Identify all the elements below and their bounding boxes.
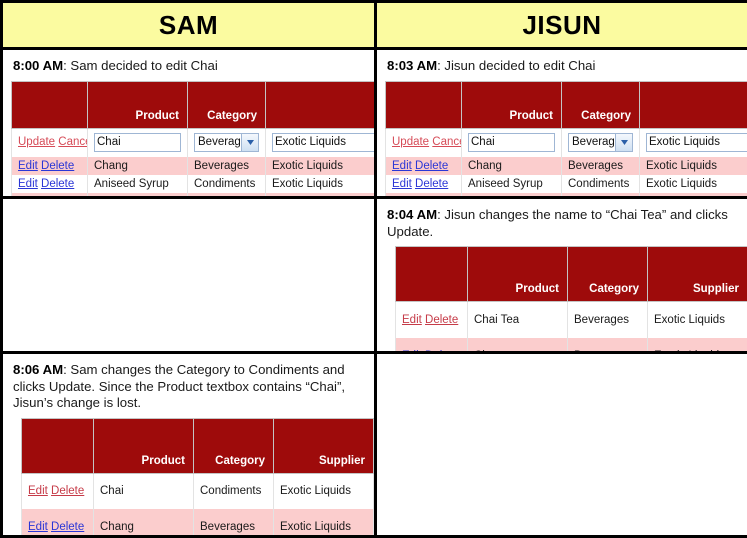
row-commands: Edit Delete: [12, 175, 88, 193]
supplier-input[interactable]: [646, 133, 747, 152]
edit-link[interactable]: Edit: [18, 178, 38, 190]
row-commands: Update Cancel: [386, 128, 462, 157]
edit-link[interactable]: Edit: [392, 178, 412, 190]
column-header-supplier: Supplier: [640, 81, 747, 128]
product-cell: Aniseed Syrup: [88, 175, 188, 193]
product-cell: Chang: [94, 509, 194, 535]
supplier-cell: Exotic Liquids: [648, 338, 747, 352]
panel-title-jisun-label: JISUN: [522, 10, 601, 41]
table-header-row: Product Category Supplier: [12, 81, 375, 128]
category-cell-editing: Beverages: [562, 128, 640, 157]
table-row: Edit Delete Chang Beverages Exotic Liqui…: [22, 509, 374, 535]
edit-link[interactable]: Edit: [402, 350, 422, 352]
product-cell: Chef Anton's Cajun: [88, 193, 188, 197]
column-header-category: Category: [188, 81, 266, 128]
column-header-command: [22, 418, 94, 473]
column-header-category: Category: [562, 81, 640, 128]
row-commands: Edit Delete: [12, 157, 88, 175]
table-row: Edit Delete Aniseed Syrup Condiments Exo…: [386, 175, 747, 193]
product-cell: Aniseed Syrup: [462, 175, 562, 193]
update-link[interactable]: Update: [392, 136, 429, 148]
cell-sam-8-00: 8:00 AM: Sam decided to edit Chai Produc…: [3, 50, 374, 196]
supplier-cell: New Orleans Cajun Delights: [266, 193, 375, 197]
row-commands: Edit Delete: [386, 193, 462, 197]
supplier-cell: Exotic Liquids: [266, 175, 375, 193]
table-row: Edit Delete Chai Condiments Exotic Liqui…: [22, 473, 374, 509]
supplier-cell: Exotic Liquids: [640, 175, 747, 193]
column-header-product: Product: [462, 81, 562, 128]
table-row: Edit Delete Chai Tea Beverages Exotic Li…: [396, 302, 747, 338]
grid-view-jisun-8-03: Product Category Supplier Update Cancel …: [385, 81, 747, 197]
caption-text-jisun-8-03: : Jisun decided to edit Chai: [437, 58, 595, 73]
column-header-supplier: Supplier: [648, 247, 747, 302]
product-cell: Chef Anton's Cajun: [462, 193, 562, 197]
row-commands: Edit Delete: [396, 338, 468, 352]
cell-jisun-empty-1: [377, 354, 747, 535]
product-cell: Chai Tea: [468, 302, 568, 338]
category-cell-editing: Beverages: [188, 128, 266, 157]
supplier-cell: Exotic Liquids: [274, 473, 374, 509]
delete-link[interactable]: Delete: [425, 350, 458, 352]
update-link[interactable]: Update: [18, 136, 55, 148]
column-header-product: Product: [468, 247, 568, 302]
column-header-category: Category: [568, 247, 648, 302]
category-select[interactable]: Beverages: [194, 133, 259, 152]
timestamp-jisun-8-03: 8:03 AM: [387, 58, 437, 73]
delete-link[interactable]: Delete: [51, 485, 84, 497]
product-cell: Chai: [94, 473, 194, 509]
table-row: Edit Delete Chang Beverages Exotic Liqui…: [396, 338, 747, 352]
supplier-input[interactable]: [272, 133, 374, 152]
table-row: Edit Delete Chang Beverages Exotic Liqui…: [12, 157, 375, 175]
supplier-cell-editing: [640, 128, 747, 157]
delete-link[interactable]: Delete: [415, 196, 448, 197]
cell-jisun-8-04: 8:04 AM: Jisun changes the name to “Chai…: [377, 199, 747, 351]
edit-link[interactable]: Edit: [28, 485, 48, 497]
delete-link[interactable]: Delete: [415, 160, 448, 172]
delete-link[interactable]: Delete: [415, 178, 448, 190]
column-header-command: [396, 247, 468, 302]
table-header-row: Product Category Supplier: [386, 81, 747, 128]
table-header-row: Product Category Supplier: [22, 418, 374, 473]
category-cell: Condiments: [562, 193, 640, 197]
column-header-product: Product: [94, 418, 194, 473]
panel-title-sam: SAM: [3, 3, 374, 47]
table-row-editing: Update Cancel Beverages: [12, 128, 375, 157]
panel-title-jisun: JISUN: [377, 3, 747, 47]
supplier-cell: New Orleans Cajun Delights: [640, 193, 747, 197]
edit-link[interactable]: Edit: [18, 160, 38, 172]
category-cell: Beverages: [194, 509, 274, 535]
row-commands: Edit Delete: [386, 157, 462, 175]
table-row: Edit Delete Chang Beverages Exotic Liqui…: [386, 157, 747, 175]
product-cell: Chang: [468, 338, 568, 352]
category-cell: Beverages: [188, 157, 266, 175]
column-header-category: Category: [194, 418, 274, 473]
category-cell: Beverages: [562, 157, 640, 175]
row-commands: Update Cancel: [12, 128, 88, 157]
supplier-cell-editing: [266, 128, 375, 157]
table-row-editing: Update Cancel Beverages: [386, 128, 747, 157]
category-select[interactable]: Beverages: [568, 133, 633, 152]
edit-link[interactable]: Edit: [18, 196, 38, 197]
row-commands: Edit Delete: [22, 509, 94, 535]
product-cell: Chang: [88, 157, 188, 175]
column-header-command: [12, 81, 88, 128]
category-cell: Beverages: [568, 302, 648, 338]
edit-link[interactable]: Edit: [392, 160, 412, 172]
timestamp-sam-8-00: 8:00 AM: [13, 58, 63, 73]
caption-sam-8-00: 8:00 AM: Sam decided to edit Chai: [13, 58, 366, 75]
caption-text-jisun-8-04: : Jisun changes the name to “Chai Tea” a…: [387, 207, 728, 239]
cell-sam-8-06: 8:06 AM: Sam changes the Category to Con…: [3, 354, 374, 535]
category-cell: Beverages: [568, 338, 648, 352]
cancel-link[interactable]: Cancel: [432, 136, 461, 148]
row-commands: Edit Delete: [22, 473, 94, 509]
edit-link[interactable]: Edit: [28, 521, 48, 533]
table-row: Edit Delete Chef Anton's Cajun Condiment…: [386, 193, 747, 197]
comparison-figure: SAM JISUN 8:00 AM: Sam decided to edit C…: [0, 0, 747, 538]
category-cell: Condiments: [188, 175, 266, 193]
caption-sam-8-06: 8:06 AM: Sam changes the Category to Con…: [13, 362, 366, 412]
product-cell: Chang: [462, 157, 562, 175]
category-cell: Condiments: [562, 175, 640, 193]
column-header-command: [386, 81, 462, 128]
table-row: Edit Delete Aniseed Syrup Condiments Exo…: [12, 175, 375, 193]
column-header-supplier: Supplier: [274, 418, 374, 473]
category-cell: Condiments: [188, 193, 266, 197]
cancel-link[interactable]: Cancel: [58, 136, 87, 148]
row-commands: Edit Delete: [386, 175, 462, 193]
delete-link[interactable]: Delete: [425, 314, 458, 326]
product-input[interactable]: [94, 133, 181, 152]
edit-link[interactable]: Edit: [402, 314, 422, 326]
caption-jisun-8-04: 8:04 AM: Jisun changes the name to “Chai…: [387, 207, 739, 240]
chevron-down-icon[interactable]: [615, 134, 632, 151]
supplier-cell: Exotic Liquids: [640, 157, 747, 175]
delete-link[interactable]: Delete: [41, 160, 74, 172]
grid-view-sam-8-00: Product Category Supplier Update Cancel …: [11, 81, 374, 197]
caption-text-sam-8-00: : Sam decided to edit Chai: [63, 58, 218, 73]
grid-view-jisun-8-04: Product Category Supplier Edit Delete Ch…: [395, 246, 747, 351]
table-row: Edit Delete Chef Anton's Cajun Condiment…: [12, 193, 375, 197]
caption-jisun-8-03: 8:03 AM: Jisun decided to edit Chai: [387, 58, 739, 75]
column-header-supplier: Supplier: [266, 81, 375, 128]
category-cell: Condiments: [194, 473, 274, 509]
cell-jisun-8-03: 8:03 AM: Jisun decided to edit Chai Prod…: [377, 50, 747, 196]
edit-link[interactable]: Edit: [392, 196, 412, 197]
supplier-cell: Exotic Liquids: [266, 157, 375, 175]
grid-view-sam-8-06: Product Category Supplier Edit Delete Ch…: [21, 418, 374, 536]
caption-text-sam-8-06: : Sam changes the Category to Condiments…: [13, 362, 345, 410]
timestamp-sam-8-06: 8:06 AM: [13, 362, 63, 377]
delete-link[interactable]: Delete: [51, 521, 84, 533]
product-cell-editing: [88, 128, 188, 157]
cell-sam-empty-1: [3, 199, 374, 351]
timestamp-jisun-8-04: 8:04 AM: [387, 207, 437, 222]
row-commands: Edit Delete: [12, 193, 88, 197]
panel-title-sam-label: SAM: [159, 10, 218, 41]
supplier-cell: Exotic Liquids: [274, 509, 374, 535]
row-commands: Edit Delete: [396, 302, 468, 338]
product-input[interactable]: [468, 133, 555, 152]
delete-link[interactable]: Delete: [41, 196, 74, 197]
supplier-cell: Exotic Liquids: [648, 302, 747, 338]
column-header-product: Product: [88, 81, 188, 128]
delete-link[interactable]: Delete: [41, 178, 74, 190]
table-header-row: Product Category Supplier: [396, 247, 747, 302]
chevron-down-icon[interactable]: [241, 134, 258, 151]
product-cell-editing: [462, 128, 562, 157]
